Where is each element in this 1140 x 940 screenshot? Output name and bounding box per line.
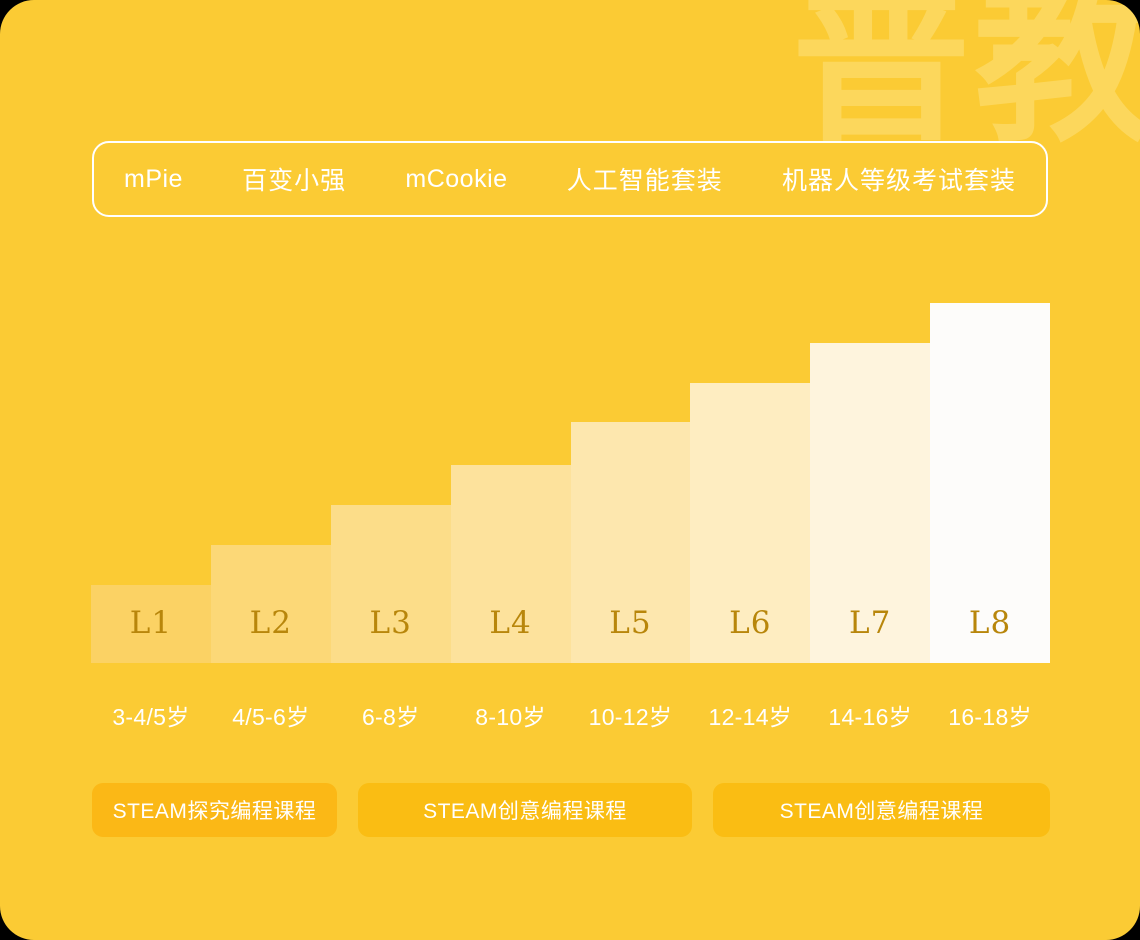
chart-bar-l5[interactable]: L5	[571, 422, 691, 663]
chart-bar-l1[interactable]: L1	[91, 585, 211, 663]
tab-mpie[interactable]: mPie	[124, 165, 183, 194]
bar-label-l6: L6	[729, 605, 771, 663]
tab-mcookie[interactable]: mCookie	[405, 165, 507, 194]
chart-bar-l4[interactable]: L4	[451, 465, 571, 663]
chart-bar-l2[interactable]: L2	[211, 545, 331, 663]
brand-watermark: 普教	[792, 0, 1140, 152]
chart-bar-l6[interactable]: L6	[690, 383, 810, 663]
age-label-l1: 3-4/5岁	[91, 698, 211, 732]
course-track-row: STEAM探究编程课程 STEAM创意编程课程 STEAM创意编程课程	[92, 783, 1050, 837]
bar-label-l5: L5	[609, 605, 651, 663]
bar-label-l1: L1	[130, 605, 172, 663]
tab-robot-exam-kit[interactable]: 机器人等级考试套装	[782, 161, 1016, 197]
bar-label-l7: L7	[849, 605, 891, 663]
chart-bar-l7[interactable]: L7	[810, 343, 930, 663]
bar-label-l4: L4	[489, 605, 531, 663]
course-button-creative-1[interactable]: STEAM创意编程课程	[358, 783, 692, 837]
tab-ai-kit[interactable]: 人工智能套装	[567, 161, 723, 197]
age-label-l7: 14-16岁	[810, 698, 930, 732]
chart-bar-l3[interactable]: L3	[331, 505, 451, 663]
age-label-l6: 12-14岁	[690, 698, 810, 732]
bar-label-l3: L3	[370, 605, 412, 663]
age-label-l8: 16-18岁	[930, 698, 1050, 732]
age-label-l4: 8-10岁	[451, 698, 571, 732]
chart-bar-l8[interactable]: L8	[930, 303, 1050, 663]
product-level-card: 普教 mPie 百变小强 mCookie 人工智能套装 机器人等级考试套装 L1…	[0, 0, 1140, 940]
bar-label-l2: L2	[250, 605, 292, 663]
age-label-l5: 10-12岁	[571, 698, 691, 732]
age-label-l3: 6-8岁	[331, 698, 451, 732]
course-button-exploration[interactable]: STEAM探究编程课程	[92, 783, 337, 837]
age-range-axis: 3-4/5岁 4/5-6岁 6-8岁 8-10岁 10-12岁 12-14岁 1…	[91, 698, 1050, 732]
level-bar-chart: L1 L2 L3 L4 L5 L6 L7 L8	[91, 290, 1050, 663]
bar-label-l8: L8	[969, 605, 1011, 663]
course-button-creative-2[interactable]: STEAM创意编程课程	[713, 783, 1050, 837]
tab-baibianxiaoqiang[interactable]: 百变小强	[242, 161, 346, 197]
product-tab-bar: mPie 百变小强 mCookie 人工智能套装 机器人等级考试套装	[92, 141, 1048, 217]
age-label-l2: 4/5-6岁	[211, 698, 331, 732]
